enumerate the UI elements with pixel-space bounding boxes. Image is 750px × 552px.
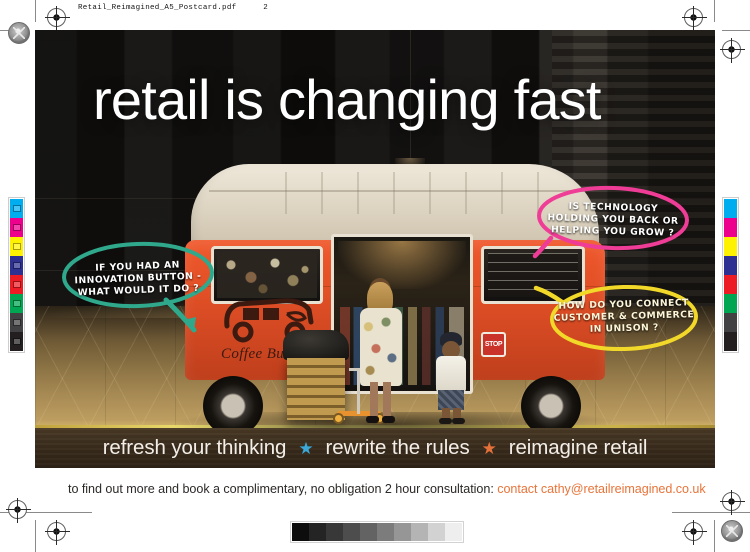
gray-step-2	[309, 523, 326, 541]
van-brand-name: Coffee Bus	[221, 346, 290, 363]
bin-bag	[283, 330, 349, 360]
color-swatch-cyan	[10, 199, 23, 218]
color-swatch-red	[10, 275, 23, 294]
footer-contact-email[interactable]: contact cathy@retailreimagined.co.uk	[497, 482, 705, 496]
trim-line-right-bottom	[714, 520, 715, 552]
color-swatch-dark-gray	[10, 313, 23, 332]
gray-step-1	[292, 523, 309, 541]
scooter-wheel-front	[333, 413, 344, 424]
registration-crosshair-top-right-outer	[722, 40, 741, 59]
registration-crosshair-top-left	[47, 8, 66, 27]
tagline: refresh your thinking ★ rewrite the rule…	[103, 436, 648, 460]
trim-line-top-right	[722, 30, 750, 31]
gray-step-5	[360, 523, 377, 541]
gray-step-8	[411, 523, 428, 541]
star-icon-orange: ★	[482, 440, 497, 457]
gray-step-6	[377, 523, 394, 541]
gray-step-10	[445, 523, 462, 541]
color-swatch-magenta	[724, 218, 737, 237]
registration-crosshair-top-left-outer	[8, 500, 27, 519]
color-swatch-green	[724, 294, 737, 313]
woman-floral-dress	[360, 308, 402, 386]
tagline-part-1: refresh your thinking	[103, 436, 287, 460]
gray-step-3	[326, 523, 343, 541]
tagline-part-2: rewrite the rules	[325, 436, 469, 460]
registration-crosshair-bottom-right-upper	[722, 492, 741, 511]
child-shorts	[438, 390, 464, 410]
speech-bubble-technology: Is technology holding you back or helpin…	[533, 182, 693, 258]
tagline-band: refresh your thinking ★ rewrite the rule…	[35, 428, 715, 468]
color-swatch-blue	[724, 256, 737, 275]
child-shirt	[436, 356, 466, 392]
postcard-artwork: STOP Coffee Bus	[35, 30, 715, 468]
child-shoe	[452, 418, 465, 424]
child-shoe	[439, 418, 452, 424]
gray-step-9	[428, 523, 445, 541]
van-roof-ribs	[251, 172, 539, 214]
star-icon-blue: ★	[298, 440, 313, 457]
color-swatch-red	[724, 275, 737, 294]
trim-line-left-top	[35, 0, 36, 22]
van-wheel-rear	[521, 376, 581, 436]
color-control-bar-left	[8, 197, 25, 353]
speech-bubble-innovation-button: If you had an innovation button - what w…	[58, 238, 218, 320]
proof-header: Retail_Reimagined_A5_Postcard.pdf 2	[78, 4, 268, 12]
speech-bubble-customer-commerce: How do you connect customer & commerce i…	[546, 278, 702, 356]
registration-crosshair-bottom-right	[684, 522, 703, 541]
van-wheel-front	[203, 376, 263, 436]
registration-crosshair-top-right	[684, 8, 703, 27]
woman-shoe	[382, 416, 395, 423]
footer-text: to find out more and book a complimentar…	[68, 482, 497, 496]
trim-line-left-bottom	[35, 520, 36, 552]
stop-sign: STOP	[481, 332, 506, 357]
woman-leg	[383, 382, 391, 418]
color-swatch-yellow	[724, 237, 737, 256]
footer-contact-line: to find out more and book a complimentar…	[68, 482, 706, 496]
trim-line-bottom-right	[672, 512, 750, 513]
color-swatch-dark-gray	[724, 313, 737, 332]
gray-step-7	[394, 523, 411, 541]
color-swatch-cyan	[724, 199, 737, 218]
woman-leg	[370, 382, 378, 418]
trim-line-right-top	[714, 0, 715, 22]
color-control-bar-right	[722, 197, 739, 353]
color-swatch-yellow	[10, 237, 23, 256]
registration-target-top-left	[8, 22, 30, 44]
registration-target-bottom-right	[721, 520, 743, 542]
color-swatch-blue	[10, 256, 23, 275]
gray-step-4	[343, 523, 360, 541]
color-swatch-black	[10, 332, 23, 351]
color-swatch-black	[724, 332, 737, 351]
woman-shoe	[366, 416, 379, 423]
proof-page-number: 2	[263, 4, 268, 12]
proof-filename: Retail_Reimagined_A5_Postcard.pdf	[78, 4, 236, 12]
woman-customer	[357, 278, 405, 424]
registration-crosshair-bottom-left	[47, 522, 66, 541]
child-customer	[433, 332, 469, 424]
color-swatch-green	[10, 294, 23, 313]
tagline-part-3: reimagine retail	[509, 436, 648, 460]
page-title: retail is changing fast	[93, 72, 601, 128]
grayscale-step-wedge	[290, 521, 464, 543]
color-swatch-magenta	[10, 218, 23, 237]
